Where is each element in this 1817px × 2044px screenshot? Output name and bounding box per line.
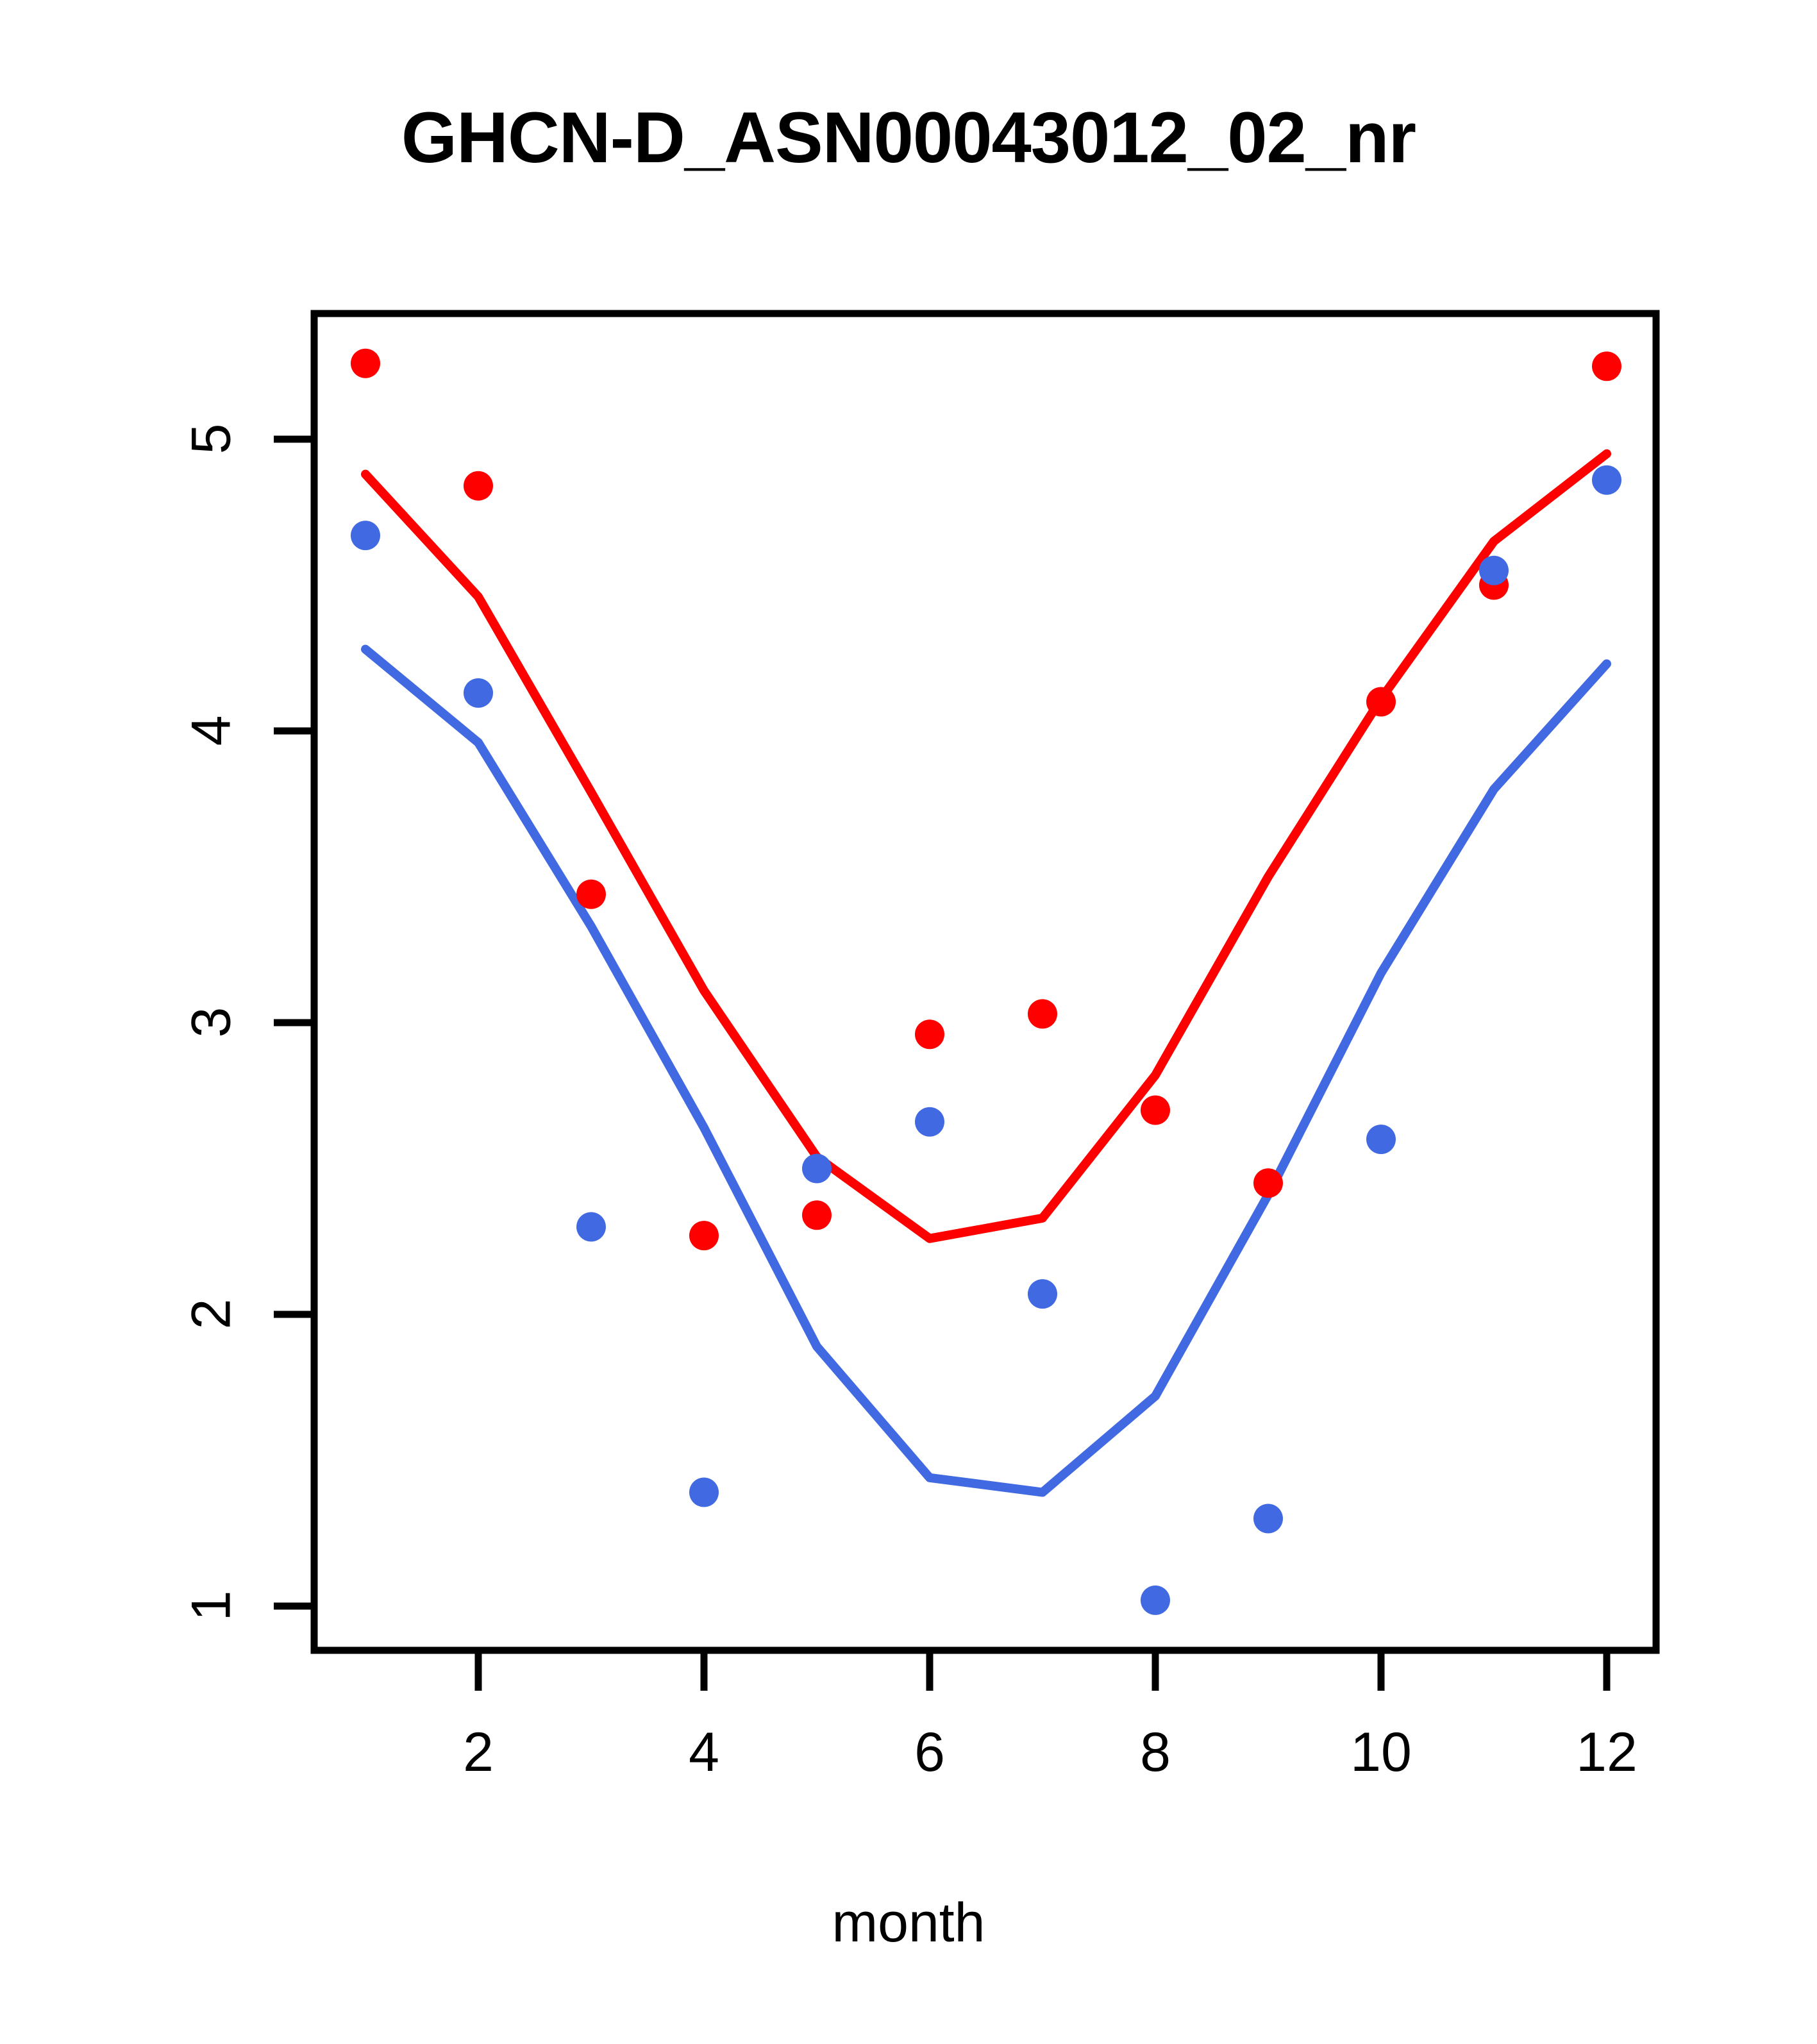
data-point-red-points: [1366, 687, 1396, 717]
data-point-red-points: [1592, 351, 1621, 381]
x-tick-label: 6: [914, 1721, 945, 1784]
y-tick-label: 1: [180, 1571, 244, 1641]
data-point-red-points: [576, 880, 606, 909]
data-point-red-points: [1028, 999, 1057, 1028]
data-point-blue-points: [1592, 465, 1621, 495]
chart-root: GHCN-D_ASN00043012_02_nr 24681012 12345 …: [0, 0, 1817, 2044]
data-point-red-points: [1253, 1168, 1283, 1198]
data-point-red-points: [351, 349, 380, 378]
data-point-blue-points: [1028, 1279, 1057, 1309]
x-tick-label: 12: [1576, 1721, 1637, 1784]
x-tick-label: 2: [463, 1721, 494, 1784]
y-tick-label: 4: [180, 696, 244, 766]
data-point-blue-points: [1253, 1504, 1283, 1534]
data-point-blue-points: [1141, 1586, 1170, 1615]
plot-svg: [0, 0, 1817, 2044]
x-axis-label: month: [0, 1891, 1817, 1955]
plot-area: [0, 0, 1817, 2044]
data-point-blue-points: [464, 678, 493, 708]
data-point-blue-points: [1479, 556, 1509, 585]
data-point-blue-points: [351, 521, 380, 550]
line-layer: [365, 454, 1607, 1493]
data-point-blue-points: [915, 1107, 944, 1137]
data-point-blue-points: [802, 1154, 832, 1184]
data-point-red-points: [802, 1200, 832, 1230]
x-tick-label: 8: [1140, 1721, 1171, 1784]
point-layer: [351, 349, 1621, 1615]
series-line-red-line: [365, 454, 1607, 1239]
plot-box: [314, 314, 1656, 1650]
x-tick-label: 4: [689, 1721, 719, 1784]
y-tick-label: 2: [180, 1279, 244, 1350]
data-point-red-points: [464, 471, 493, 501]
y-tick-label: 5: [180, 404, 244, 474]
data-point-blue-points: [689, 1478, 719, 1507]
data-point-blue-points: [576, 1212, 606, 1242]
series-line-blue-line: [365, 649, 1607, 1493]
x-tick-label: 10: [1350, 1721, 1412, 1784]
data-point-red-points: [689, 1221, 719, 1250]
data-point-red-points: [1141, 1096, 1170, 1125]
data-point-red-points: [915, 1019, 944, 1049]
y-tick-label: 3: [180, 987, 244, 1058]
data-point-blue-points: [1366, 1125, 1396, 1154]
